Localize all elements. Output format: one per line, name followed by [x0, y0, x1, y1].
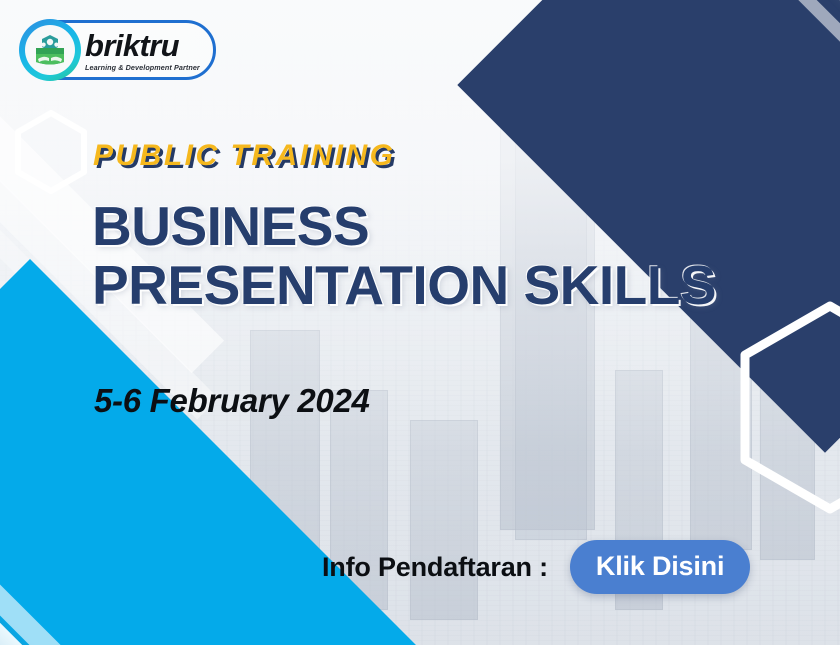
page-title: BUSINESS PRESENTATION SKILLS [92, 197, 716, 316]
hexagon-outline-icon [14, 110, 88, 194]
brand-logo[interactable]: briktru Learning & Development Partner [20, 20, 216, 80]
event-date: 5-6 February 2024 [94, 382, 370, 420]
cta-label: Info Pendaftaran : [322, 552, 548, 583]
handshake-glyph-icon [30, 30, 70, 70]
hexagon-outline-icon [735, 300, 840, 515]
title-line-2: PRESENTATION SKILLS [92, 256, 716, 315]
title-line-1: BUSINESS [92, 197, 716, 256]
cta-group: Info Pendaftaran : Klik Disini [322, 540, 750, 594]
handshake-hexagon-logo-icon [19, 19, 81, 81]
logo-mark-inner-disc [25, 25, 75, 75]
kicker-public-training: PUBLIC TRAINING [93, 139, 396, 173]
brand-name: briktru [85, 30, 200, 61]
register-button[interactable]: Klik Disini [570, 540, 750, 594]
brand-tagline: Learning & Development Partner [85, 64, 200, 71]
promo-poster: briktru Learning & Development Partner P… [0, 0, 840, 645]
brand-logo-text: briktru Learning & Development Partner [85, 28, 200, 71]
